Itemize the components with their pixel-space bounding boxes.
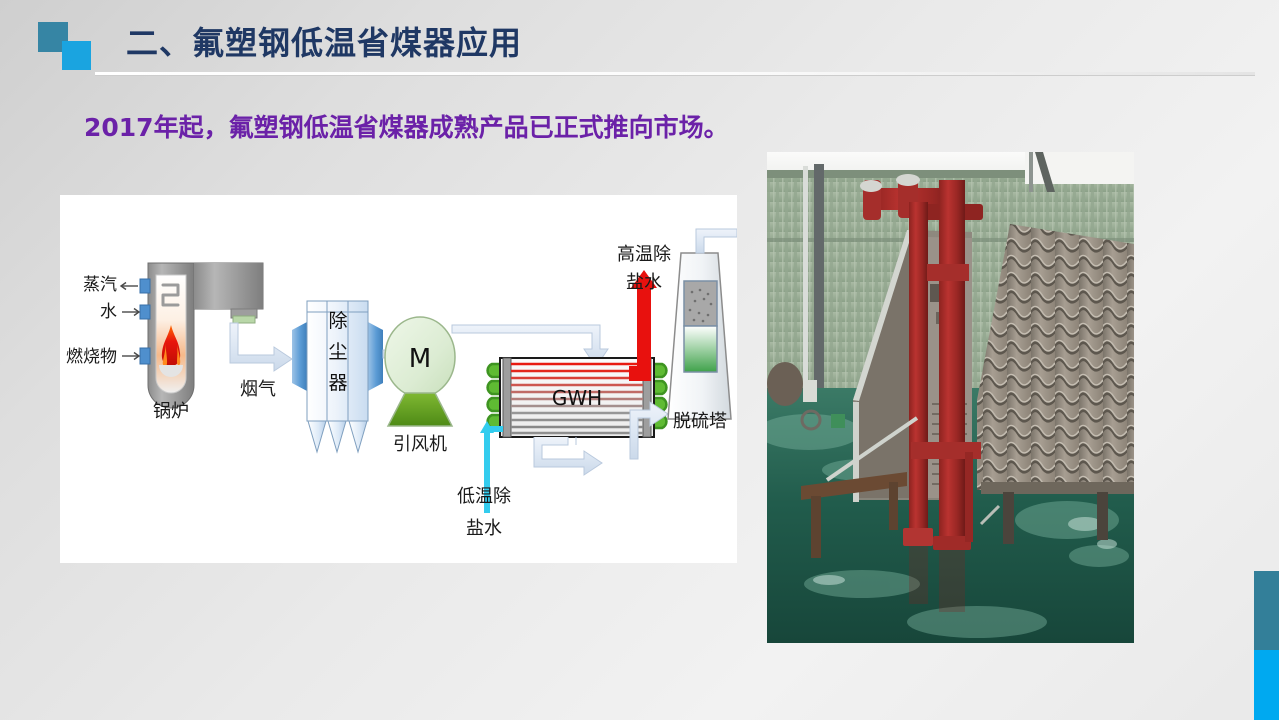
process-diagram-panel: 蒸汽 水 燃烧物 锅炉 烟气 — [60, 195, 737, 563]
steam-nozzle — [140, 279, 150, 293]
fuel-nozzle — [140, 348, 150, 364]
label-water: 水 — [100, 302, 117, 322]
site-photo — [767, 152, 1134, 643]
label-motor: M — [409, 344, 431, 374]
label-induced-draft-fan: 引风机 — [393, 434, 447, 455]
label-dust-collector-char-0: 除 — [328, 310, 347, 332]
label-desulfurization-tower: 脱硫塔 — [673, 411, 727, 432]
label-dust-collector: 除 尘 器 — [328, 310, 347, 394]
desulfurization-tower-unit — [668, 229, 737, 419]
label-hot-demin-water-line2: 盐水 — [626, 272, 662, 293]
accent-bar — [1254, 571, 1279, 720]
title-underline — [95, 72, 1255, 75]
slide-root: 二、氟塑钢低温省煤器应用 2017年起，氟塑钢低温省煤器成熟产品已正式推向市场。 — [0, 0, 1279, 720]
label-dust-collector-char-2: 器 — [328, 372, 347, 394]
label-fuel: 燃烧物 — [66, 347, 117, 367]
water-nozzle — [140, 305, 150, 319]
flue-gas-duct — [230, 323, 292, 371]
accent-bar-bottom-segment — [1254, 650, 1279, 720]
label-gwh: GWH — [552, 386, 602, 410]
label-dust-collector-char-1: 尘 — [328, 341, 347, 363]
label-cold-demin-water-line2: 盐水 — [466, 518, 502, 539]
induced-draft-fan-unit: M — [385, 317, 455, 426]
site-photo-image — [767, 152, 1134, 643]
label-flue-gas: 烟气 — [240, 379, 276, 400]
label-boiler: 锅炉 — [153, 401, 189, 422]
label-cold-demin-water-line1: 低温除 — [457, 486, 511, 507]
label-steam: 蒸汽 — [83, 275, 117, 295]
square-decoration-light-icon — [62, 41, 91, 70]
accent-bar-top-segment — [1254, 571, 1279, 650]
page-title: 二、氟塑钢低温省煤器应用 — [126, 18, 522, 64]
label-hot-demin-water-line1: 高温除 — [617, 244, 671, 265]
process-flow-diagram: 蒸汽 水 燃烧物 锅炉 烟气 — [60, 195, 737, 563]
slide-subtitle: 2017年起，氟塑钢低温省煤器成熟产品已正式推向市场。 — [84, 108, 729, 144]
